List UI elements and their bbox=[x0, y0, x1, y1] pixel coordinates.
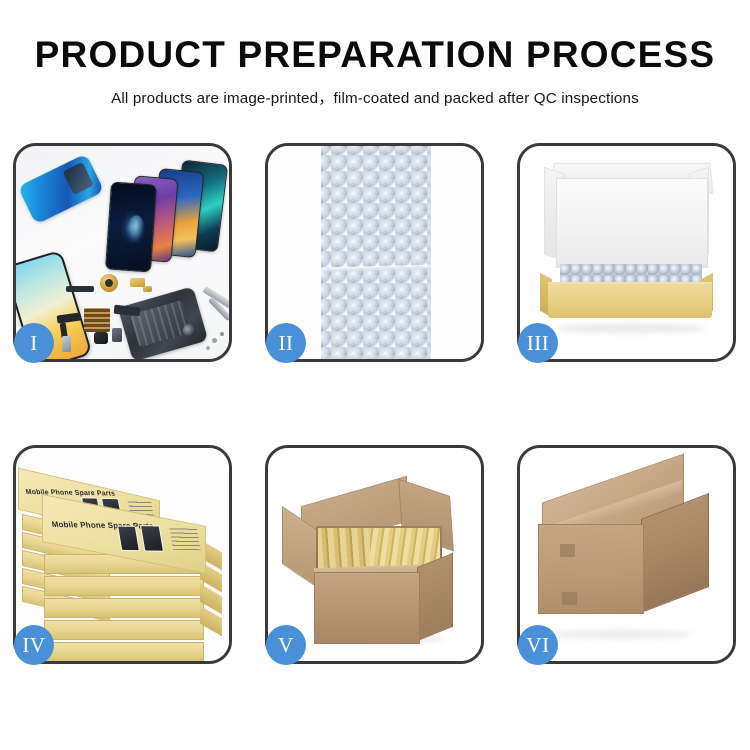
carton-drop-shadow bbox=[552, 630, 692, 639]
carton-right-side bbox=[417, 553, 453, 642]
page-title: PRODUCT PREPARATION PROCESS bbox=[0, 36, 750, 75]
process-step-panel-3: III bbox=[517, 143, 736, 362]
step-badge-4: IV bbox=[14, 625, 54, 665]
step-4-illustration: Mobile Phone Spare Parts Mob bbox=[16, 448, 229, 661]
screw-icon bbox=[212, 338, 217, 343]
step-5-illustration bbox=[268, 448, 481, 661]
gold-connector-b-icon bbox=[143, 286, 152, 292]
process-step-panel-6: VI bbox=[517, 445, 736, 664]
kraft-box-front-3 bbox=[44, 598, 204, 618]
process-step-panel-1: I bbox=[13, 143, 232, 362]
box-lid-panel-icon bbox=[556, 178, 708, 268]
yellow-boxes-inside-second-icon bbox=[318, 528, 370, 570]
kraft-box-front-2 bbox=[44, 576, 204, 596]
speaker-part-icon bbox=[66, 286, 94, 292]
step-badge-6: VI bbox=[518, 625, 558, 665]
process-step-grid: I II III bbox=[13, 143, 737, 664]
kraft-box-front-5 bbox=[44, 642, 204, 661]
box-artwork-textlines-b bbox=[169, 527, 200, 550]
screw-icon bbox=[220, 332, 224, 336]
box-drop-shadow bbox=[554, 324, 706, 333]
box-artwork-phone-d bbox=[140, 525, 164, 552]
bubble-row-secondary bbox=[321, 146, 431, 359]
page-subtitle: All products are image-printed，film-coat… bbox=[0, 86, 750, 108]
battery-part-icon bbox=[112, 328, 122, 342]
step-2-illustration bbox=[268, 146, 481, 359]
screw-icon bbox=[206, 346, 210, 350]
carton-handle-notch-bottom bbox=[562, 592, 577, 605]
process-step-panel-2: II bbox=[265, 143, 484, 362]
chip-grid-part-icon bbox=[84, 308, 110, 332]
phone-dark-wallpaper-icon bbox=[105, 182, 157, 273]
step-1-illustration bbox=[16, 146, 229, 359]
bubble-wrap-sheet-icon bbox=[321, 146, 431, 359]
process-step-panel-4: Mobile Phone Spare Parts Mob bbox=[13, 445, 232, 664]
page-header: PRODUCT PREPARATION PROCESS All products… bbox=[0, 0, 750, 108]
camera-module-icon bbox=[94, 332, 108, 344]
sim-tray-icon bbox=[62, 336, 71, 352]
carton-front-face bbox=[314, 572, 420, 644]
process-step-panel-5: V bbox=[265, 445, 484, 664]
step-3-illustration bbox=[520, 146, 733, 359]
step-badge-3: III bbox=[518, 323, 558, 363]
box-tray-front-icon bbox=[548, 286, 712, 318]
kraft-box-stack-icon: Mobile Phone Spare Parts Mob bbox=[16, 448, 229, 661]
step-badge-5: V bbox=[266, 625, 306, 665]
kraft-box-label-upper: Mobile Phone Spare Parts bbox=[25, 489, 116, 498]
kraft-box-front-4 bbox=[44, 620, 204, 640]
carton-handle-notch-top bbox=[560, 544, 575, 557]
step-badge-2: II bbox=[266, 323, 306, 363]
gold-coil-part-icon bbox=[100, 274, 118, 292]
sealed-carton-front-face bbox=[538, 524, 644, 614]
step-badge-1: I bbox=[14, 323, 54, 363]
step-6-illustration bbox=[520, 448, 733, 661]
kraft-box-label-front: Mobile Phone Spare Parts bbox=[51, 520, 154, 531]
